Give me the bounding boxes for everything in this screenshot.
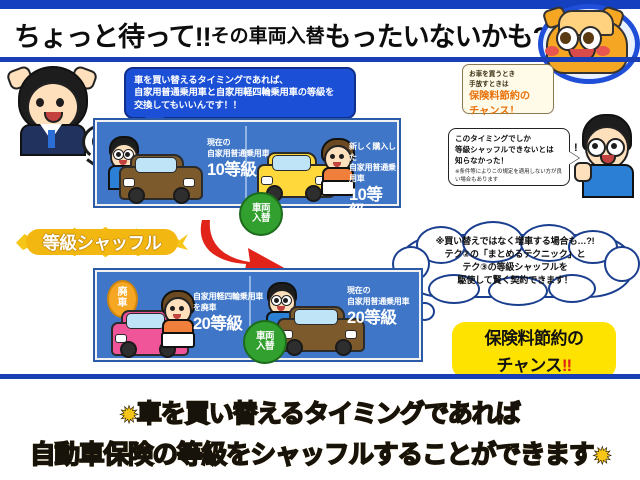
panel-top-left-car [119,154,199,200]
swap-badge-bottom-line2: 入替 [256,342,274,352]
savings-note-line4: チャンス！ [469,106,547,118]
panel-bottom-right-grade: 20等級 [347,310,409,327]
panel-bottom-right-caption1: 現在の [347,286,409,297]
quote-line1: このタイミングでしか [455,134,563,145]
infographic-canvas: ちょっと待って!! その車両入替 もったいないかも? 車を買い替えるタイミングで… [0,0,640,480]
headline-part1: ちょっと待って!! [14,15,211,54]
quote-line2: 等級シャッフルできないとは [455,145,563,156]
blue-speech-bubble: 車を買い替えるタイミングであれば、 自家用普通乗用車と自家用軽四輪乗用車の等級を… [124,67,356,119]
savings-note-line3: 保険料節約の [469,91,547,103]
callout-marks: ‼ [562,356,572,375]
cloud-line4: 駆使して賢く契約できます！ [408,274,622,287]
footer-line2: 自動車保険の等級をシャッフルすることができます [30,441,594,469]
savings-chance-note: お車を買うとき 手放すときは 保険料節約の チャンス！ [462,64,554,114]
customer-quote-bubble: このタイミングでしか 等級シャッフルできないとは 知らなかった！ ※条件等により… [448,128,570,186]
panel-bottom-right-labels: 現在の 自家用普通乗用車 20等級 [347,286,409,327]
savings-note-line1: お車を買うとき [469,70,547,80]
blue-bubble-line1: 車を買い替えるタイミングであれば、 [134,74,347,86]
star-left-icon: ✹ [120,404,137,427]
quote-footnote: ※条件等によりこの規定を適用しない方が良い場合もあります [455,169,563,184]
cloud-line3: テク③の等級シャッフルを [408,261,622,274]
vehicle-swap-badge-bottom: 車両 入替 [243,320,287,364]
footer-banner: ✹車を買い替えるタイミングであれば 自動車保険の等級をシャッフルすることができま… [0,386,640,478]
panel-top-right-labels: 新しく購入した 自家用普通乗用車 10等級 [349,142,397,220]
panel-top-right-person [319,138,353,188]
callout-line1: 保険料節約の [485,324,584,349]
panel-bottom-left-person [159,290,193,340]
diagram-panel-before: 現在の 自家用普通乗用車 10等級 新しく購入した 自家用普通乗用車 10等級 [95,120,399,206]
page-title: ちょっと待って!! その車両入替 もったいないかも? [14,12,554,56]
blue-bubble-line2: 自家用普通乗用車と自家用軽四輪乗用車の等級を [134,86,347,98]
panel-bottom-left-caption1: 自家用軽四輪乗用車 [193,292,263,303]
panel-top-right-grade: 10等級 [349,187,397,220]
bottom-blue-rule [0,374,640,379]
callout-line2: チャンス [496,356,562,375]
star-right-icon: ✹ [593,445,610,468]
grade-shuffle-text: 等級シャッフル [16,222,188,262]
headline-part3: もったいないかも? [325,15,549,54]
cloud-line1: ※買い替えではなく増車する場合も…?! [408,235,622,248]
savings-note-line2: 手放すときは [469,80,547,90]
panel-top-left-caption1: 現在の [207,138,269,149]
blue-bubble-line3: 交換してもいいんです！！ [134,99,347,111]
grade-shuffle-label: 等級シャッフル [16,222,188,262]
title-underline-rule [0,57,640,62]
headline-part2: その車両入替 [211,21,325,48]
cloud-line2: テク②の「まとめるテクニック」と [408,248,622,261]
panel-bottom-right-caption2: 自家用普通乗用車 [347,297,409,308]
panel-bottom-left-caption2: を廃車 [193,303,263,314]
savings-chance-callout: 保険料節約の チャンス‼ [452,322,616,378]
quote-line3: 知らなかった！ [455,156,563,167]
footer-line1: 車を買い替えるタイミングであれば [137,400,520,428]
customer-illustration: ! [574,112,636,196]
salesman-illustration [4,62,96,150]
thought-cloud: ※買い替えではなく増車する場合も…?! テク②の「まとめるテクニック」と テク③… [392,228,636,304]
panel-top-right-caption1: 新しく購入した [349,142,397,163]
scrap-badge-line2: 車 [118,299,128,310]
panel-top-right-caption2: 自家用普通乗用車 [349,163,397,184]
